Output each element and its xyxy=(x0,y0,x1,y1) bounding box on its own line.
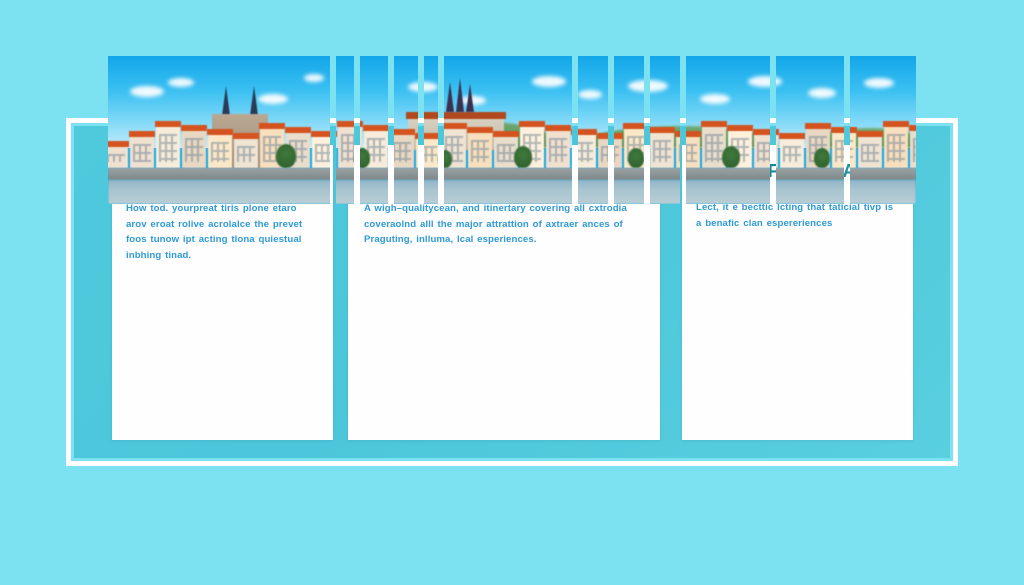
cloud xyxy=(532,76,566,87)
card-clean[interactable]: CLEAN A wigh–qualitycean, and itinertary… xyxy=(348,145,660,440)
cloud xyxy=(748,76,770,87)
card-body-create: How tod. yourpreat tiris plone etaro aro… xyxy=(112,193,333,263)
cloud xyxy=(258,94,288,104)
card-title-create: CREATE xyxy=(112,145,333,193)
cloud xyxy=(628,80,644,92)
cloud xyxy=(808,88,836,98)
poster-root: CREATE How tod. yourpreat tiris plone et… xyxy=(0,0,1024,585)
card-title-profesionial: PROFESIONIAL xyxy=(682,145,913,192)
cloud xyxy=(578,90,602,99)
cloud xyxy=(776,76,782,87)
cards-row: CREATE How tod. yourpreat tiris plone et… xyxy=(74,126,950,458)
cloud xyxy=(864,78,894,88)
card-profesionial[interactable]: PROFESIONIAL Lect, it e becttic lcting t… xyxy=(682,145,913,440)
cloud xyxy=(650,80,668,92)
card-title-clean: CLEAN xyxy=(348,145,660,193)
cathedral-spire xyxy=(456,78,464,112)
cloud xyxy=(130,86,164,97)
card-create[interactable]: CREATE How tod. yourpreat tiris plone et… xyxy=(112,145,333,440)
cloud xyxy=(424,82,438,92)
cloud xyxy=(700,94,730,104)
cloud xyxy=(460,96,486,105)
card-body-clean: A wigh–qualitycean, and itinertary cover… xyxy=(348,193,660,248)
cathedral-spire xyxy=(446,82,454,112)
cloud xyxy=(304,74,324,82)
card-body-profesionial: Lect, it e becttic lcting that taticial … xyxy=(682,192,913,231)
cloud xyxy=(408,82,418,92)
cloud xyxy=(168,78,194,87)
cathedral-spire xyxy=(466,84,474,112)
